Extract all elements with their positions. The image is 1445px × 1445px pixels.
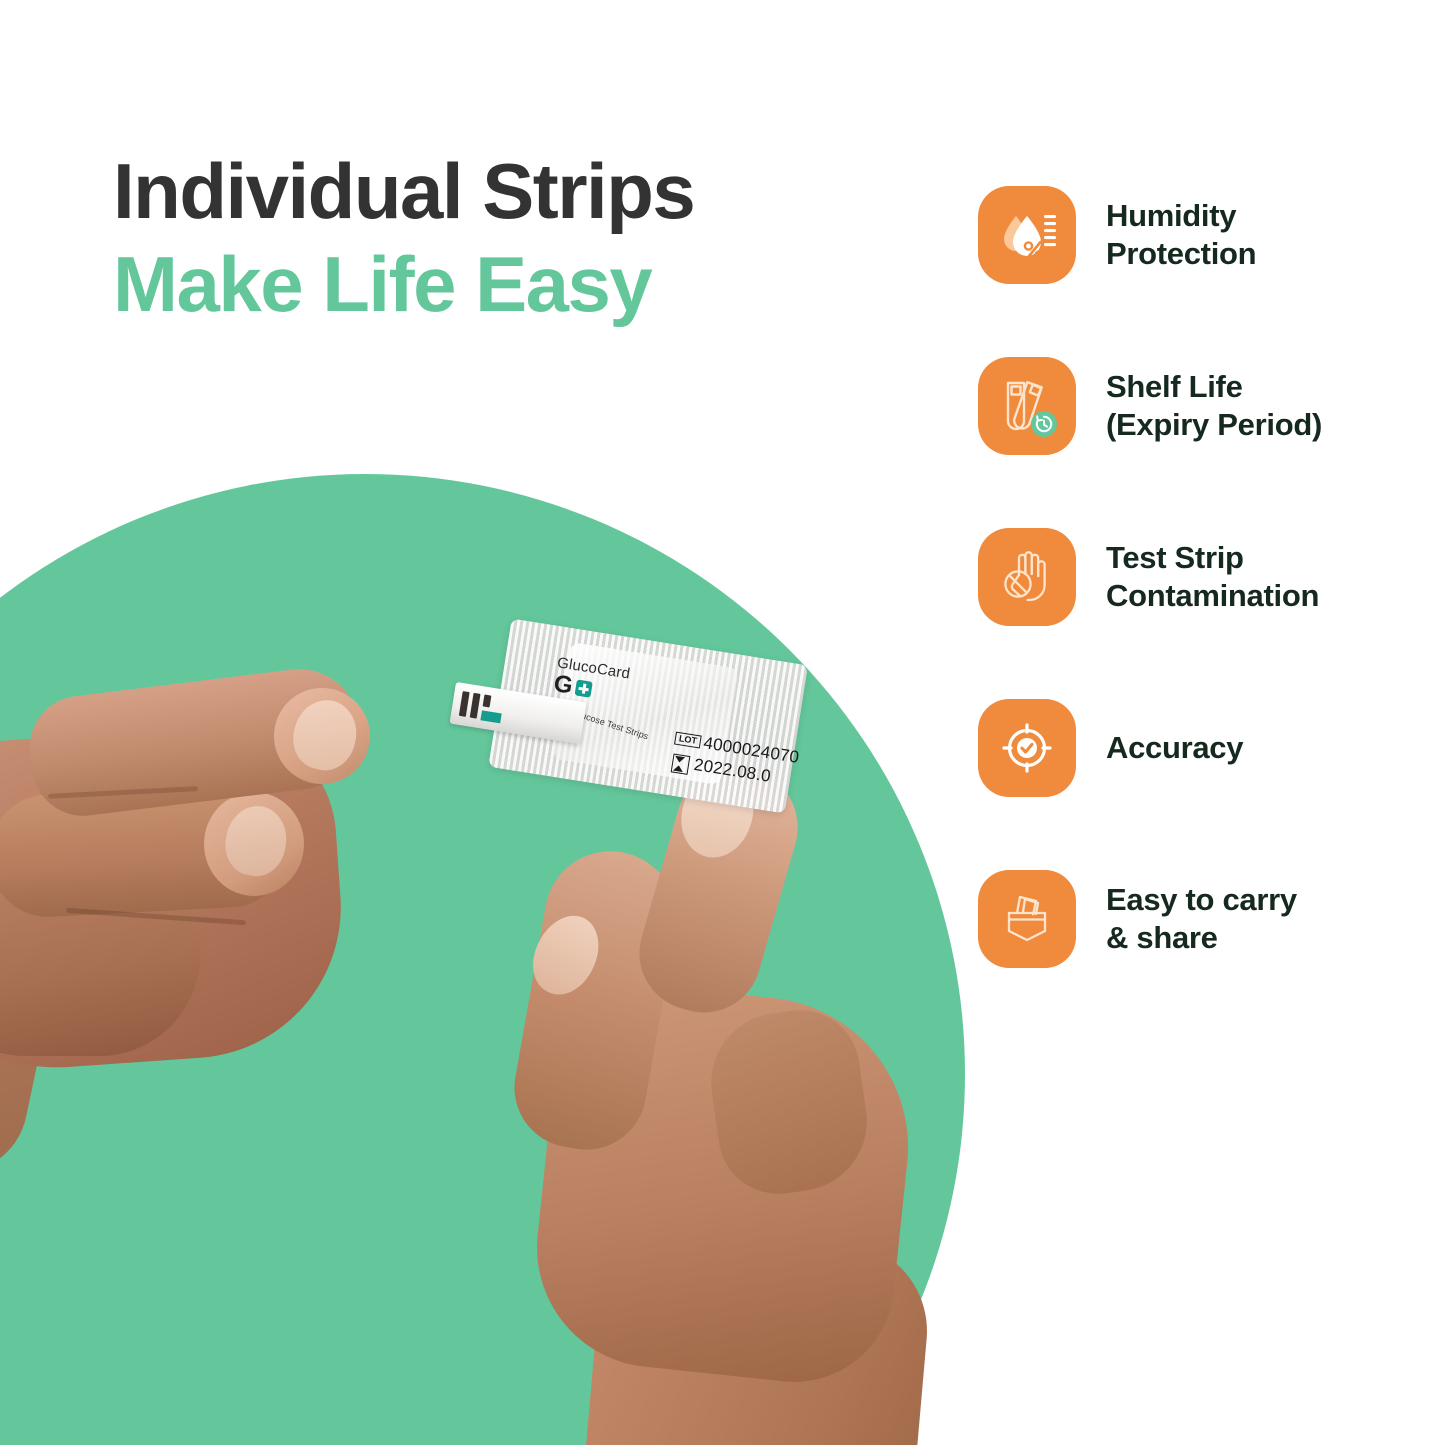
hand-no-contamination-icon [978, 528, 1076, 626]
plus-cross-icon [575, 679, 593, 697]
test-tubes-clock-icon [978, 357, 1076, 455]
feature-label: Accuracy [1106, 729, 1243, 767]
headline-block: Individual Strips Make Life Easy [113, 150, 933, 325]
pocket-strips-icon [978, 870, 1076, 968]
feature-label: Shelf Life (Expiry Period) [1106, 368, 1322, 444]
headline-line-1: Individual Strips [113, 150, 933, 233]
feature-item-shelf-life[interactable]: Shelf Life (Expiry Period) [978, 357, 1408, 455]
feature-item-contamination[interactable]: Test Strip Contamination [978, 528, 1408, 626]
crosshair-check-accuracy-icon [978, 699, 1076, 797]
feature-item-easy-carry[interactable]: Easy to carry & share [978, 870, 1408, 968]
product-photo [0, 474, 1000, 1445]
humidity-droplet-percent-icon [978, 186, 1076, 284]
feature-item-accuracy[interactable]: Accuracy [978, 699, 1408, 797]
infographic-canvas: Individual Strips Make Life Easy [0, 0, 1445, 1445]
headline-line-2: Make Life Easy [113, 243, 933, 326]
feature-label: Easy to carry & share [1106, 881, 1297, 957]
feature-label: Test Strip Contamination [1106, 539, 1319, 615]
feature-list: Humidity Protection [978, 186, 1408, 968]
feature-label: Humidity Protection [1106, 197, 1256, 273]
right-hand [470, 764, 1000, 1445]
feature-item-humidity-protection[interactable]: Humidity Protection [978, 186, 1408, 284]
left-hand [0, 614, 490, 1134]
hourglass-icon [671, 753, 691, 774]
sachet-logo-letter: G [552, 672, 574, 699]
